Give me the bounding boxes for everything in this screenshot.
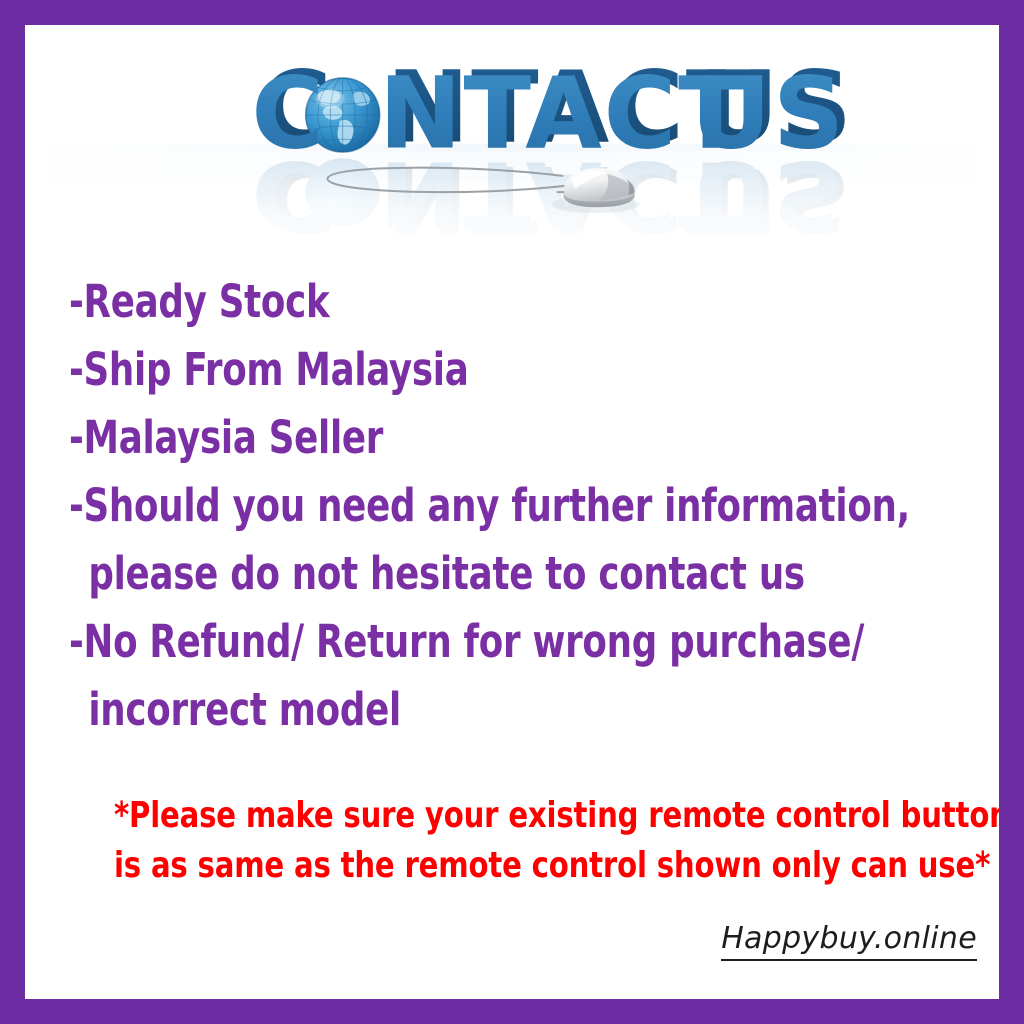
list-item: -No Refund/ Return for wrong purchase/ <box>69 608 852 676</box>
list-item: -Should you need any further information… <box>69 472 852 540</box>
warning-note: *Please make sure your existing remote c… <box>69 791 969 891</box>
info-list: -Ready Stock -Ship From Malaysia -Malays… <box>69 268 959 744</box>
list-item-continuation: please do not hesitate to contact us <box>69 540 852 608</box>
list-item: -Ready Stock <box>69 268 852 336</box>
list-item: -Ship From Malaysia <box>69 336 852 404</box>
store-signature: Happybuy.online <box>721 921 977 961</box>
list-item: -Malaysia Seller <box>69 404 852 472</box>
contact-us-header-graphic: C NTACT US C NTACT US <box>25 47 999 262</box>
poster-canvas: C NTACT US C NTACT US <box>25 25 999 999</box>
contact-us-poster: C NTACT US C NTACT US <box>0 0 1024 1024</box>
svg-text:US: US <box>691 56 846 171</box>
warning-line: is as same as the remote control shown o… <box>114 841 924 891</box>
list-item-continuation: incorrect model <box>69 676 852 744</box>
header-artwork: C NTACT US C NTACT US <box>25 47 999 262</box>
svg-text:C: C <box>251 56 326 171</box>
warning-line: *Please make sure your existing remote c… <box>114 791 924 841</box>
